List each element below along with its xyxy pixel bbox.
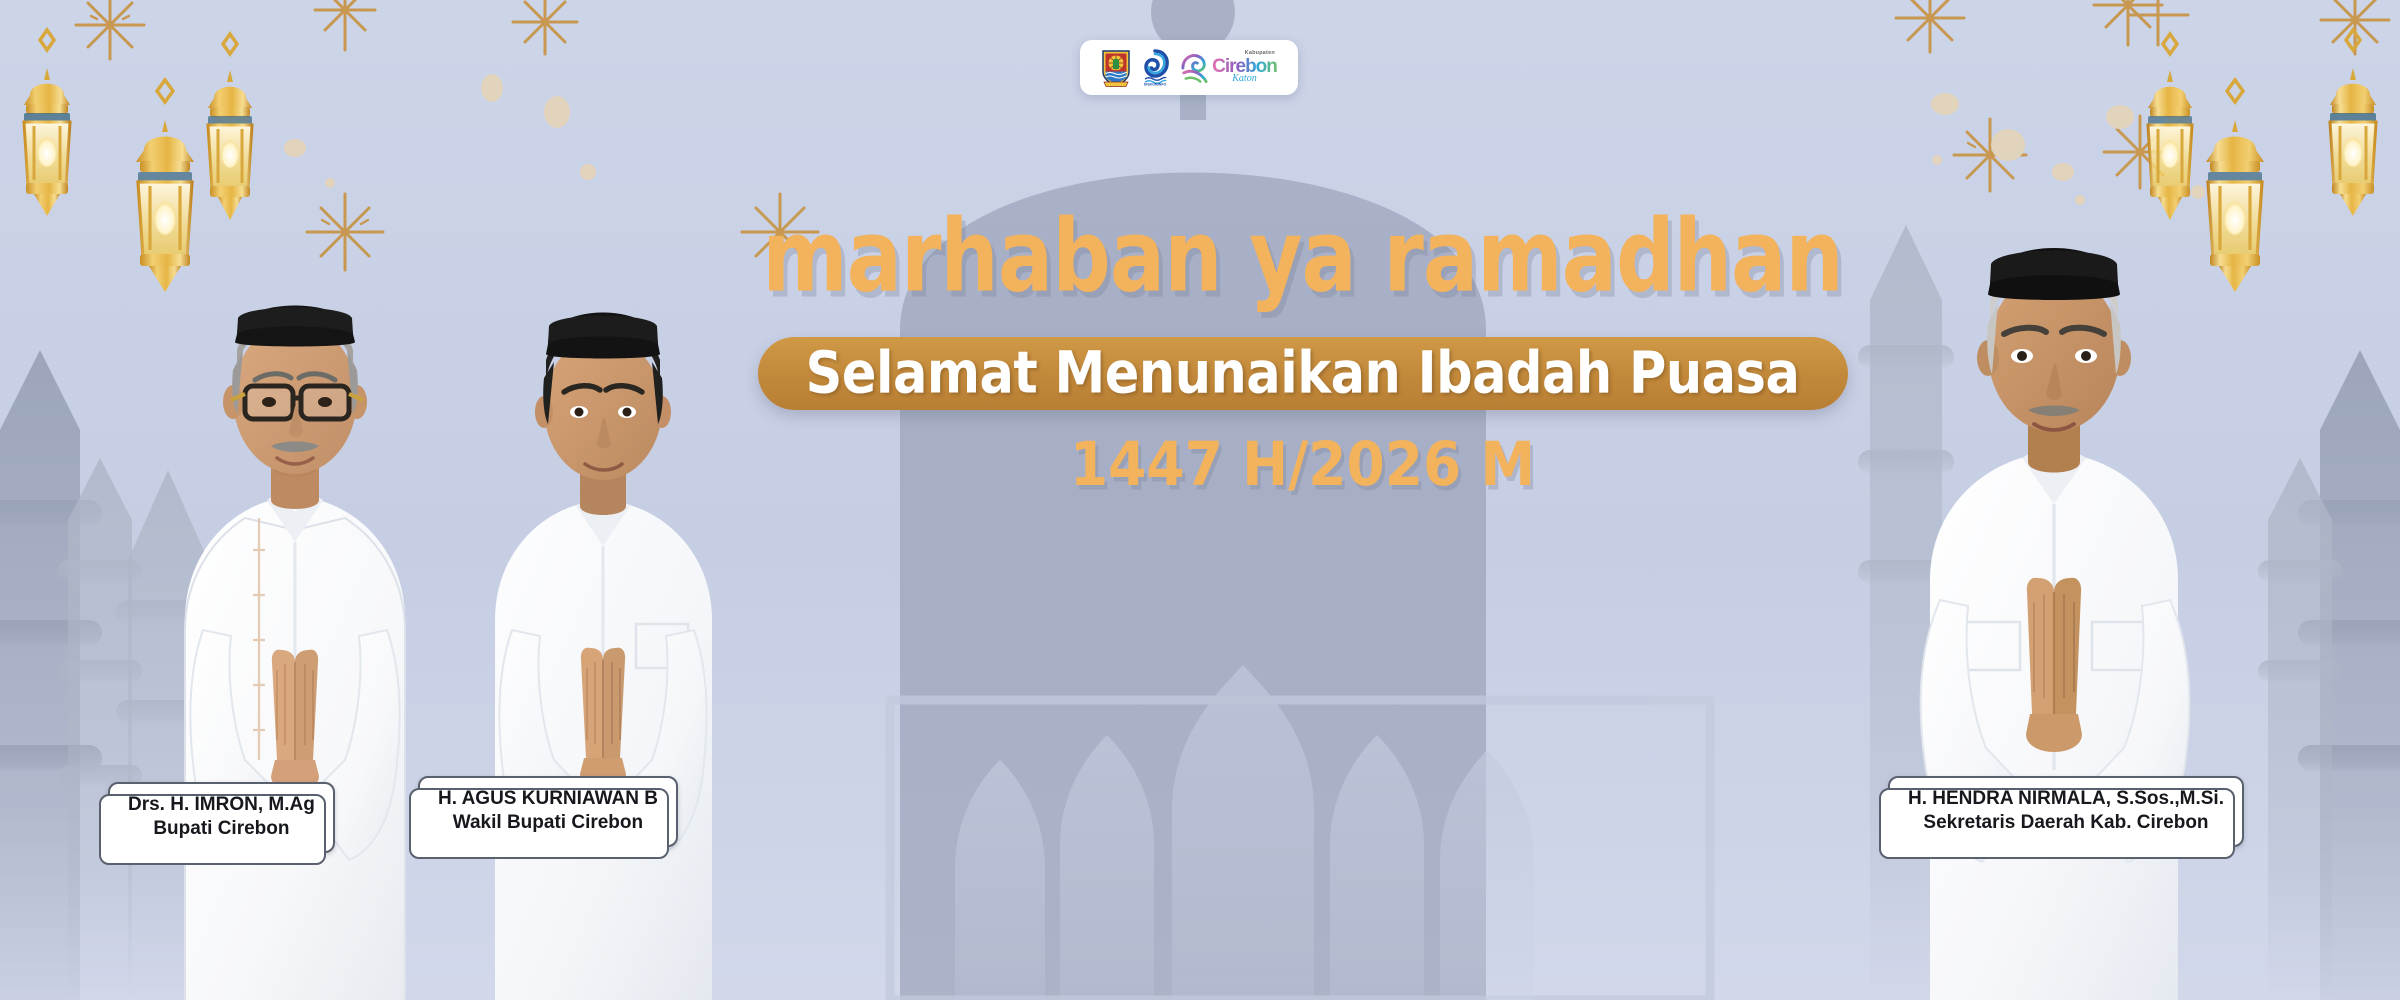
diskominfo-caption: DISKOMINFO [1144, 82, 1167, 86]
cirebon-katon-script: Katon [1232, 74, 1256, 84]
greeting-headline-block: marhaban ya ramadhan Selamat Menunaikan … [735, 205, 1870, 496]
lantern-icon-a [24, 0, 70, 216]
nameplate-sekda: H. HENDRA NIRMALA, S.Sos.,M.Si. Sekretar… [1882, 776, 2249, 847]
nameplate-bupati-name: Drs. H. IMRON, M.Ag [128, 793, 315, 817]
ramadhan-greeting-banner: DISKOMINFO Kabupaten [0, 0, 2400, 1000]
photo-wakil-bupati [440, 220, 770, 1000]
greeting-pill-text: Selamat Menunaikan Ibadah Puasa [806, 340, 1800, 407]
nameplate-sekda-role: Sekretaris Daerah Kab. Cirebon [1908, 811, 2224, 835]
salam-hands [580, 648, 626, 789]
photo-bupati [125, 200, 465, 1000]
nameplate-bupati-role: Bupati Cirebon [128, 817, 315, 841]
hijri-gregorian-year: 1447 H/2026 M [735, 429, 1870, 499]
institution-logo-card: DISKOMINFO Kabupaten [1080, 40, 1298, 95]
photo-sekda [1840, 170, 2280, 1000]
cirebon-katon-logo-icon: Kabupaten Cirebon Katon [1179, 51, 1277, 85]
cirebon-regency-crest-icon [1101, 48, 1131, 88]
salam-hands [2026, 578, 2082, 752]
nameplate-wakil-bupati-role: Wakil Bupati Cirebon [438, 811, 658, 835]
greeting-pill: Selamat Menunaikan Ibadah Puasa [758, 337, 1848, 410]
diskominfo-logo-icon: DISKOMINFO [1140, 48, 1170, 88]
salam-hands [271, 650, 319, 791]
nameplate-bupati: Drs. H. IMRON, M.Ag Bupati Cirebon [102, 782, 340, 853]
lantern-icon-d [2330, 0, 2376, 216]
lantern-icon-c [208, 0, 252, 220]
marhaban-headline: marhaban ya ramadhan [735, 205, 1870, 310]
nameplate-wakil-bupati: H. AGUS KURNIAWAN B Wakil Bupati Cirebon [412, 776, 683, 847]
nameplate-wakil-bupati-name: H. AGUS KURNIAWAN B [438, 787, 658, 811]
nameplate-sekda-name: H. HENDRA NIRMALA, S.Sos.,M.Si. [1908, 787, 2224, 811]
